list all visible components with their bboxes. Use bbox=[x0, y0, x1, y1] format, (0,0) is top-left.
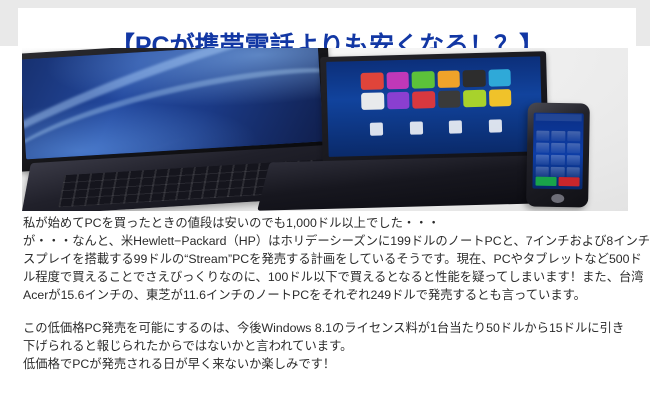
body-line: Acerが15.6インチの、東芝が11.6インチのノートPCをそれぞれ249ドル… bbox=[23, 286, 633, 304]
dial-key bbox=[536, 155, 550, 165]
laptop-middle-base bbox=[257, 155, 559, 211]
smartphone-home-button bbox=[551, 194, 564, 203]
body-line: この低価格PC発売を可能にするのは、今後Windows 8.1のライセンス料が1… bbox=[23, 319, 633, 337]
app-tile bbox=[437, 70, 460, 88]
dial-key bbox=[536, 143, 550, 153]
article-page: 【PCが携帯電話よりも安くなる！？】 bbox=[0, 0, 650, 410]
app-tile bbox=[438, 90, 461, 108]
page-top-gutter bbox=[0, 0, 650, 8]
dial-key bbox=[566, 155, 580, 165]
paragraph-1: 私が始めてPCを買ったときの値段は安いのでも1,000ドル以上でした・・・ が・… bbox=[23, 214, 633, 304]
dock-search-icon bbox=[409, 121, 422, 134]
smartphone-dial-pad bbox=[536, 131, 581, 178]
body-line: が・・・なんと、米Hewlett−Packard（HP）はホリデーシーズンに19… bbox=[23, 232, 633, 250]
app-tile bbox=[412, 91, 435, 109]
app-tile bbox=[361, 92, 384, 110]
laptop-middle-device bbox=[320, 51, 556, 207]
smartphone-screen bbox=[532, 113, 583, 190]
paragraph-2: この低価格PC発売を可能にするのは、今後Windows 8.1のライセンス料が1… bbox=[23, 319, 633, 373]
laptop-middle-screen bbox=[326, 56, 542, 157]
dock-camera-icon bbox=[449, 120, 462, 133]
page-left-gutter bbox=[0, 0, 18, 46]
app-tile bbox=[488, 69, 511, 87]
app-tile bbox=[387, 92, 410, 110]
app-tile bbox=[463, 90, 486, 108]
smartphone-status-bar bbox=[536, 114, 582, 122]
laptop-middle-bezel bbox=[320, 51, 549, 169]
dock-tools-icon bbox=[370, 122, 383, 135]
app-tile bbox=[488, 89, 511, 107]
smartphone-device bbox=[526, 102, 590, 207]
dial-key bbox=[552, 131, 566, 141]
body-line: スプレイを搭載する99ドルの“Stream”PCを発売する計画をしているそうです… bbox=[23, 250, 633, 268]
app-dock bbox=[370, 119, 502, 135]
dial-key bbox=[551, 155, 565, 165]
dial-key bbox=[551, 167, 565, 177]
app-tile bbox=[462, 70, 485, 88]
app-tile bbox=[386, 72, 409, 90]
body-line: 低価格でPCが発売される日が早く来ないか楽しみです！ bbox=[23, 355, 633, 373]
app-tile bbox=[361, 72, 384, 90]
dock-music-icon bbox=[489, 119, 502, 132]
body-line: ル程度で買えることでさえびっくりなのに、100ドル以下で買えるとなると性能を疑っ… bbox=[23, 268, 633, 286]
app-grid bbox=[361, 69, 512, 110]
body-line: 下げられると報じられたからではないかと言われています。 bbox=[23, 337, 633, 355]
article-body: 私が始めてPCを買ったときの値段は安いのでも1,000ドル以上でした・・・ が・… bbox=[23, 214, 633, 373]
laptop-left-wallpaper bbox=[22, 48, 324, 159]
call-accept-button bbox=[535, 177, 556, 186]
laptop-left-screen bbox=[22, 48, 324, 159]
dial-key bbox=[536, 167, 550, 177]
body-line: 私が始めてPCを買ったときの値段は安いのでも1,000ドル以上でした・・・ bbox=[23, 214, 633, 232]
hero-image bbox=[22, 48, 628, 211]
call-end-button bbox=[558, 177, 579, 186]
smartphone-call-buttons bbox=[535, 177, 579, 187]
app-tile bbox=[411, 71, 434, 89]
dial-key bbox=[551, 143, 565, 153]
dial-key bbox=[566, 167, 580, 177]
page-right-gutter bbox=[636, 0, 650, 46]
dial-key bbox=[536, 131, 550, 141]
dial-key bbox=[567, 143, 581, 153]
dial-key bbox=[567, 131, 581, 141]
